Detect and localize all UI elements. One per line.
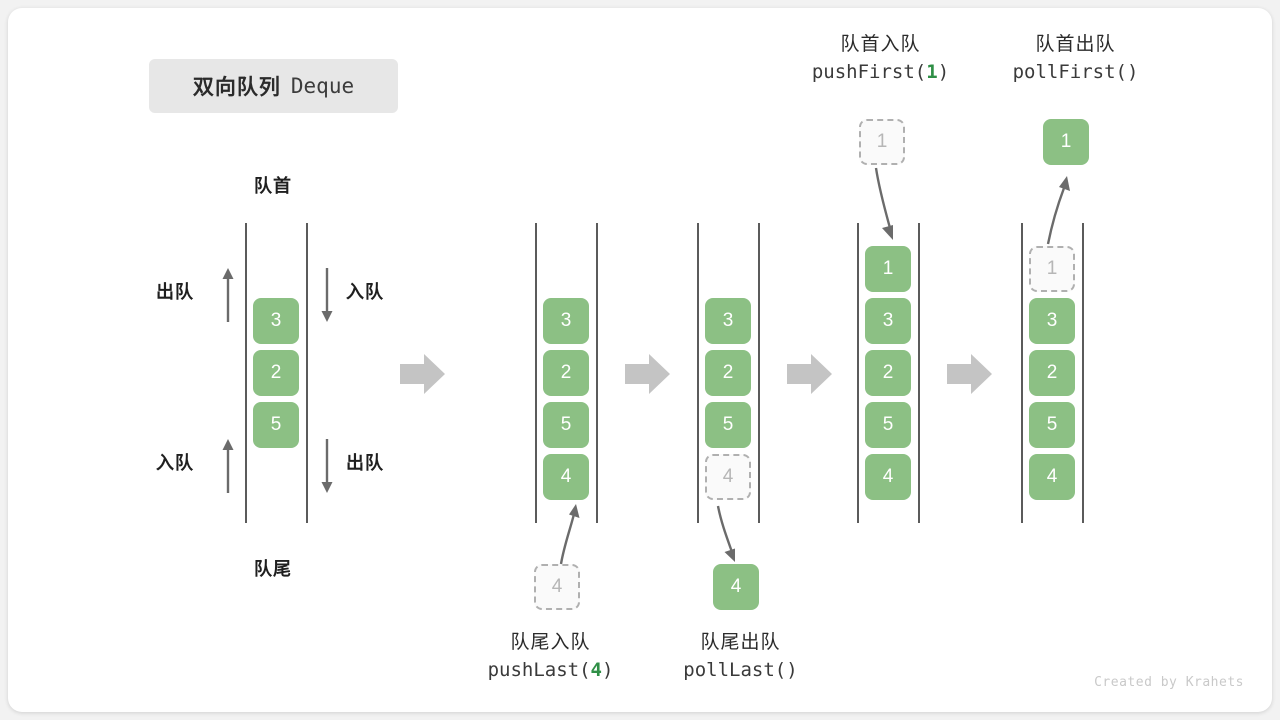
label-front: 队首 — [213, 172, 333, 198]
stack-3-cell-3: 5 — [705, 402, 751, 448]
label-dequeue-rear: 出队 — [346, 449, 384, 475]
poll-last-code-suffix: ) — [786, 659, 797, 681]
flow-arrow-1-icon — [400, 353, 446, 395]
caption-poll-last-code: pollLast() — [638, 656, 843, 684]
stack-1-rail-left — [245, 223, 247, 523]
stack-2-cell-4: 4 — [543, 454, 589, 500]
label-dequeue-front: 出队 — [156, 278, 194, 304]
stack-4-cell-4: 5 — [865, 402, 911, 448]
stack-5-cell-5: 4 — [1029, 454, 1075, 500]
stack-5-cell-3: 2 — [1029, 350, 1075, 396]
stack-4-rail-left — [857, 223, 859, 523]
flow-arrow-4-icon — [947, 353, 993, 395]
stack-5-rail-right — [1082, 223, 1084, 523]
title-en: Deque — [291, 74, 354, 98]
caption-poll-first-cn: 队首出队 — [973, 32, 1178, 58]
poll-last-code-prefix: pollLast( — [683, 659, 786, 681]
floating-cell-poll-first-result: 1 — [1043, 119, 1089, 165]
floating-cell-poll-last-result: 4 — [713, 564, 759, 610]
poll-first-code-prefix: pollFirst( — [1013, 61, 1127, 83]
stack-2-cell-1: 3 — [543, 298, 589, 344]
stack-4-rail-right — [918, 223, 920, 523]
flow-arrow-2-icon — [625, 353, 671, 395]
caption-push-last-cn: 队尾入队 — [448, 630, 653, 656]
stack-2-rail-left — [535, 223, 537, 523]
arrow-down-dequeue-rear — [317, 437, 337, 495]
caption-push-last: 队尾入队 pushLast(4) — [448, 630, 653, 684]
caption-poll-last-cn: 队尾出队 — [638, 630, 843, 656]
stack-1-rail-right — [306, 223, 308, 523]
caption-push-first-cn: 队首入队 — [778, 32, 983, 58]
stack-2-cell-2: 2 — [543, 350, 589, 396]
caption-poll-first-code: pollFirst() — [973, 58, 1178, 86]
stack-5-cell-1: 1 — [1029, 246, 1075, 292]
arrow-push-last — [548, 498, 588, 568]
title-cn: 双向队列 — [193, 71, 281, 101]
push-first-code-prefix: pushFirst( — [812, 61, 926, 83]
stack-3-cell-2: 2 — [705, 350, 751, 396]
flow-arrow-3-icon — [787, 353, 833, 395]
stack-5-cell-4: 5 — [1029, 402, 1075, 448]
arrow-poll-last — [708, 504, 748, 566]
arrow-down-enqueue-front — [317, 266, 337, 324]
caption-push-first: 队首入队 pushFirst(1) — [778, 32, 983, 86]
stack-1-cell-2: 2 — [253, 350, 299, 396]
caption-poll-first: 队首出队 pollFirst() — [973, 32, 1178, 86]
arrow-poll-first — [1030, 166, 1080, 246]
caption-poll-last: 队尾出队 pollLast() — [638, 630, 843, 684]
stack-1-cell-3: 5 — [253, 402, 299, 448]
watermark: Created by Krahets — [1094, 675, 1244, 690]
push-last-code-value: 4 — [591, 659, 602, 681]
stack-1-cell-1: 3 — [253, 298, 299, 344]
floating-cell-push-last-ghost: 4 — [534, 564, 580, 610]
stack-5-rail-left — [1021, 223, 1023, 523]
push-first-code-value: 1 — [926, 61, 937, 83]
diagram-card: 双向队列 Deque 队首入队 pushFirst(1) 队首出队 pollFi… — [8, 8, 1272, 712]
stack-5-cell-2: 3 — [1029, 298, 1075, 344]
push-last-code-suffix: ) — [602, 659, 613, 681]
stack-2-cell-3: 5 — [543, 402, 589, 448]
stack-4-cell-5: 4 — [865, 454, 911, 500]
stack-4-cell-1: 1 — [865, 246, 911, 292]
stack-4-cell-2: 3 — [865, 298, 911, 344]
caption-push-first-code: pushFirst(1) — [778, 58, 983, 86]
arrow-up-enqueue-rear — [218, 437, 238, 495]
poll-first-code-suffix: ) — [1127, 61, 1138, 83]
stack-3-cell-1: 3 — [705, 298, 751, 344]
title-badge: 双向队列 Deque — [149, 59, 398, 113]
stack-3-rail-right — [758, 223, 760, 523]
push-first-code-suffix: ) — [938, 61, 949, 83]
label-enqueue-rear: 入队 — [156, 449, 194, 475]
push-last-code-prefix: pushLast( — [488, 659, 591, 681]
arrow-up-dequeue-front — [218, 266, 238, 324]
stack-3-rail-left — [697, 223, 699, 523]
arrow-push-first — [863, 166, 913, 246]
stack-4-cell-3: 2 — [865, 350, 911, 396]
stack-3-cell-4: 4 — [705, 454, 751, 500]
floating-cell-push-first-ghost: 1 — [859, 119, 905, 165]
caption-push-last-code: pushLast(4) — [448, 656, 653, 684]
label-rear: 队尾 — [213, 555, 333, 581]
label-enqueue-front: 入队 — [346, 278, 384, 304]
stack-2-rail-right — [596, 223, 598, 523]
